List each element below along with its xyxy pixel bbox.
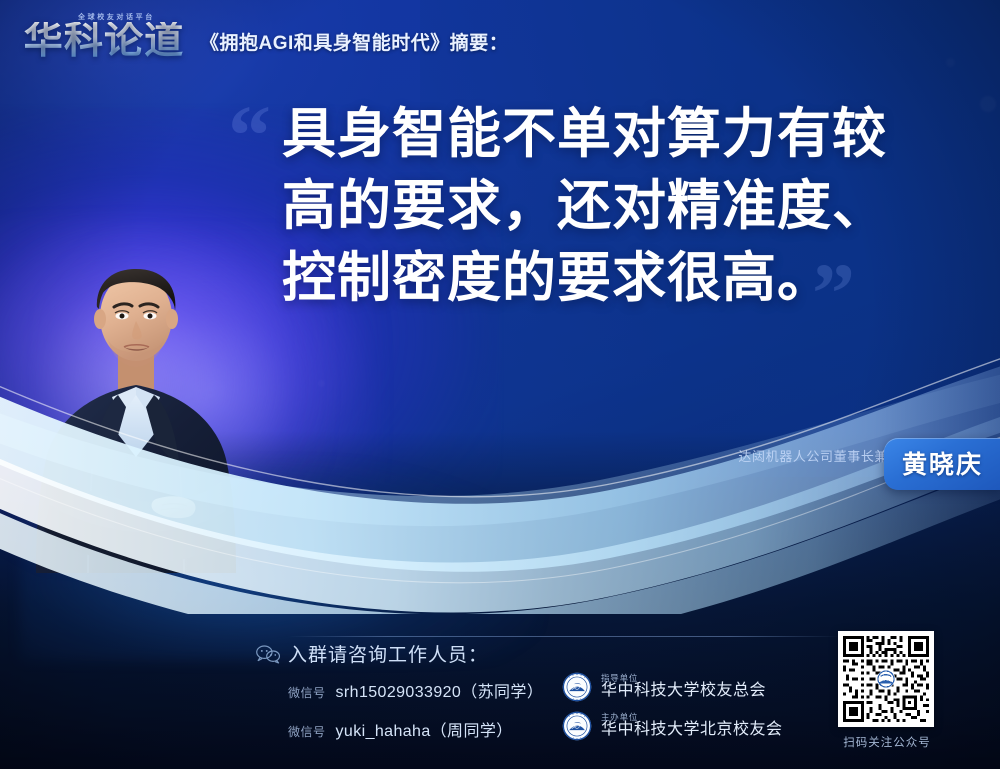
contact-row: 微信号 yuki_hahaha（周同学） bbox=[288, 717, 513, 741]
page-title: 《拥抱AGI和具身智能时代》摘要： bbox=[200, 28, 508, 55]
speaker-name-badge: 黄晓庆 bbox=[884, 438, 1000, 490]
speaker-name: 黄晓庆 bbox=[902, 451, 983, 479]
quote-open-mark: “ bbox=[228, 92, 271, 178]
qr-block: 扫码关注公众号 bbox=[838, 631, 936, 750]
quote-text: 具身智能不单对算力有较 高的要求，还对精准度、 控制密度的要求很高。 bbox=[282, 98, 962, 314]
wechat-icon bbox=[255, 644, 281, 664]
qr-caption: 扫码关注公众号 bbox=[838, 734, 936, 750]
university-emblem-icon bbox=[562, 672, 592, 702]
contact-value[interactable]: srh15029033920（苏同学） bbox=[336, 678, 544, 702]
organization-row: 主办单位 华中科技大学北京校友会 bbox=[562, 711, 783, 741]
quote-line: 高的要求，还对精准度、 bbox=[282, 170, 962, 242]
portrait-illustration bbox=[30, 243, 242, 573]
contact-label: 微信号 bbox=[288, 723, 326, 740]
contact-row: 微信号 srh15029033920（苏同学） bbox=[288, 678, 543, 702]
university-emblem-icon bbox=[562, 711, 592, 741]
qr-code-icon[interactable] bbox=[838, 631, 934, 727]
contact-value[interactable]: yuki_hahaha（周同学） bbox=[336, 717, 513, 741]
organization-row: 指导单位 华中科技大学校友总会 bbox=[562, 672, 766, 702]
quote-line: 具身智能不单对算力有较 bbox=[282, 98, 962, 170]
footer-divider bbox=[288, 636, 840, 637]
qr-code-pattern bbox=[843, 636, 929, 722]
logo-wordmark: 华科论道 bbox=[24, 22, 185, 60]
organization-name: 华中科技大学北京校友会 bbox=[601, 722, 783, 739]
poster-header: 全球校友对话平台 华科论道 《拥抱AGI和具身智能时代》摘要： bbox=[26, 14, 508, 60]
organization-name: 华中科技大学校友总会 bbox=[601, 683, 766, 700]
contact-heading: 入群请咨询工作人员： bbox=[288, 640, 488, 667]
quote-line: 控制密度的要求很高。 bbox=[282, 242, 962, 314]
organization-text: 主办单位 华中科技大学北京校友会 bbox=[601, 713, 783, 739]
speaker-portrait bbox=[30, 243, 242, 573]
organization-text: 指导单位 华中科技大学校友总会 bbox=[601, 674, 766, 700]
contact-label: 微信号 bbox=[288, 684, 326, 701]
brand-logo: 全球校友对话平台 华科论道 bbox=[26, 14, 182, 60]
poster-canvas: 全球校友对话平台 华科论道 《拥抱AGI和具身智能时代》摘要： “ 具身智能不单… bbox=[0, 0, 1000, 769]
